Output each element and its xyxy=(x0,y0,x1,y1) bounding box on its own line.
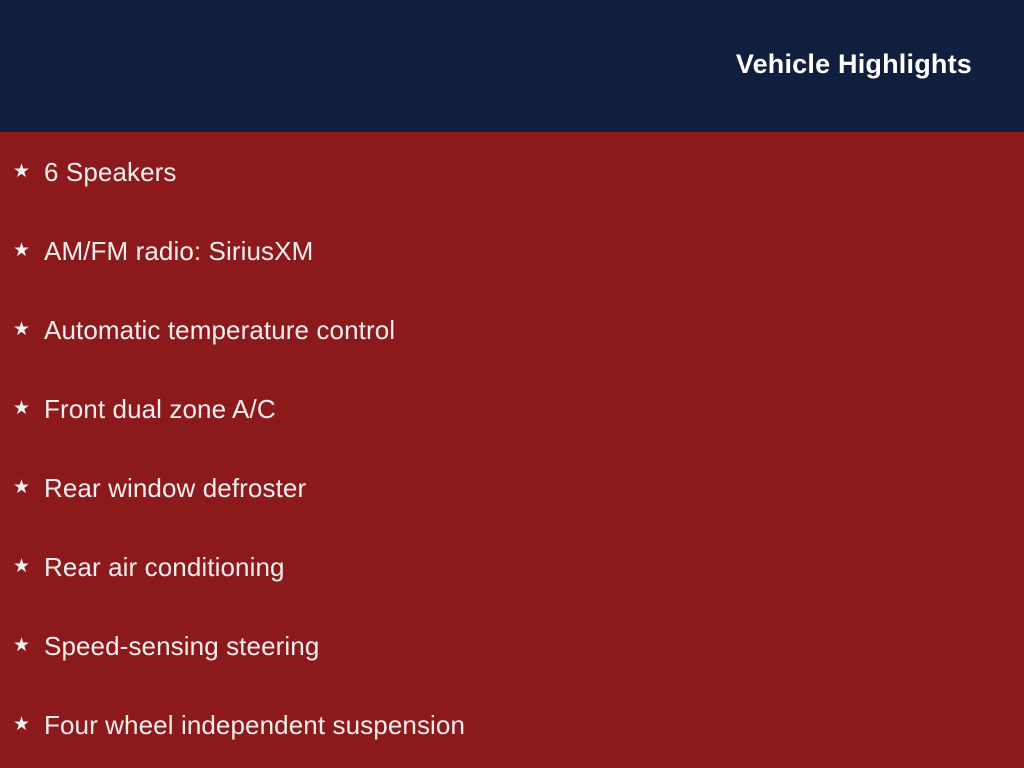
feature-label: 6 Speakers xyxy=(44,156,177,188)
feature-label: Four wheel independent suspension xyxy=(44,709,465,741)
list-item: ★ AM/FM radio: SiriusXM xyxy=(0,211,1024,290)
feature-label: Rear air conditioning xyxy=(44,551,285,583)
star-icon: ★ xyxy=(13,162,44,181)
list-item: ★ Front dual zone A/C xyxy=(0,369,1024,448)
star-icon: ★ xyxy=(13,399,44,418)
list-item: ★ 6 Speakers xyxy=(0,132,1024,211)
list-item: ★ Speed-sensing steering xyxy=(0,606,1024,685)
list-item: ★ Rear air conditioning xyxy=(0,527,1024,606)
feature-label: Front dual zone A/C xyxy=(44,393,276,425)
content-area: ★ 6 Speakers ★ AM/FM radio: SiriusXM ★ A… xyxy=(0,132,1024,768)
list-item: ★ Automatic temperature control xyxy=(0,290,1024,369)
star-icon: ★ xyxy=(13,715,44,734)
list-item: ★ Four wheel independent suspension xyxy=(0,685,1024,764)
star-icon: ★ xyxy=(13,478,44,497)
page-title: Vehicle Highlights xyxy=(736,47,972,81)
star-icon: ★ xyxy=(13,241,44,260)
feature-label: Automatic temperature control xyxy=(44,314,395,346)
header-bar: Vehicle Highlights xyxy=(0,0,1024,132)
vehicle-features-list: ★ 6 Speakers ★ AM/FM radio: SiriusXM ★ A… xyxy=(0,132,1024,764)
list-item: ★ Rear window defroster xyxy=(0,448,1024,527)
slide-vehicle-highlights: Vehicle Highlights ★ 6 Speakers ★ AM/FM … xyxy=(0,0,1024,768)
star-icon: ★ xyxy=(13,320,44,339)
star-icon: ★ xyxy=(13,557,44,576)
feature-label: Speed-sensing steering xyxy=(44,630,319,662)
star-icon: ★ xyxy=(13,636,44,655)
feature-label: Rear window defroster xyxy=(44,472,306,504)
feature-label: AM/FM radio: SiriusXM xyxy=(44,235,313,267)
